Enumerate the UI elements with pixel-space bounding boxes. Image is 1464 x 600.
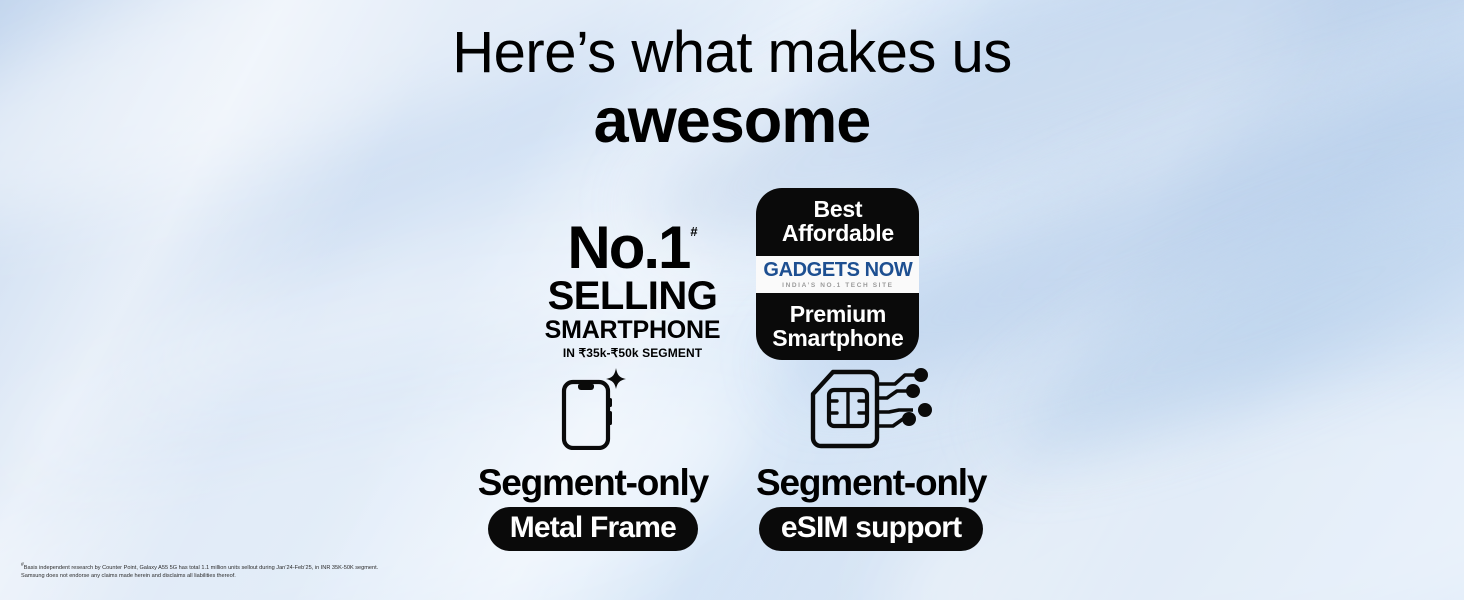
no1-selling-label: SELLING <box>545 276 721 316</box>
no1-number: No.1 <box>567 222 689 273</box>
no1-segment-label: IN ₹35k-₹50k SEGMENT <box>545 346 721 360</box>
background-streak <box>982 129 1464 491</box>
feature-pill-label: eSIM support <box>759 507 983 552</box>
no1-selling-badge: No.1 # SELLING SMARTPHONE IN ₹35k-₹50k S… <box>545 170 721 360</box>
gadgets-now-logo-band: GADGETS NOW INDIA’S NO.1 TECH SITE <box>756 256 919 293</box>
feature-pill-label: Metal Frame <box>488 507 698 552</box>
headline-line-1: Here’s what makes us <box>0 24 1464 82</box>
no1-smartphone-label: SMARTPHONE <box>545 317 721 343</box>
gadgets-now-tagline: INDIA’S NO.1 TECH SITE <box>756 283 919 290</box>
disclaimer-line-2: Samsung does not endorse any claims made… <box>21 572 378 581</box>
feature-row-bottom: Segment-only Metal Frame <box>432 376 1032 551</box>
gadgets-now-badge: Best Affordable GADGETS NOW INDIA’S NO.1… <box>756 170 919 360</box>
gadgets-now-logo: GADGETS NOW <box>756 260 919 280</box>
disclaimer-text: #Basis independent research by Counter P… <box>21 562 378 581</box>
feature-row-top: No.1 # SELLING SMARTPHONE IN ₹35k-₹50k S… <box>432 170 1032 360</box>
disclaimer-line-1-text: Basis independent research by Counter Po… <box>24 565 378 571</box>
esim-chip-icon <box>756 368 986 450</box>
promo-banner: Here’s what makes us awesome No.1 # SELL… <box>0 0 1464 600</box>
feature-grid: No.1 # SELLING SMARTPHONE IN ₹35k-₹50k S… <box>432 170 1032 551</box>
gadgets-now-bottom-label: Premium Smartphone <box>772 303 903 351</box>
phone-sparkle-icon <box>478 368 708 450</box>
feature-esim-support: Segment-only eSIM support <box>756 376 986 551</box>
feature-metal-frame: Segment-only Metal Frame <box>478 376 708 551</box>
gadgets-now-top-label: Best Affordable <box>782 198 894 246</box>
page-title: Here’s what makes us awesome <box>0 24 1464 153</box>
feature-title: Segment-only <box>478 464 708 501</box>
disclaimer-line-1: #Basis independent research by Counter P… <box>21 562 378 573</box>
no1-superscript: # <box>690 226 697 237</box>
feature-title: Segment-only <box>756 464 986 501</box>
headline-line-2: awesome <box>0 90 1464 153</box>
